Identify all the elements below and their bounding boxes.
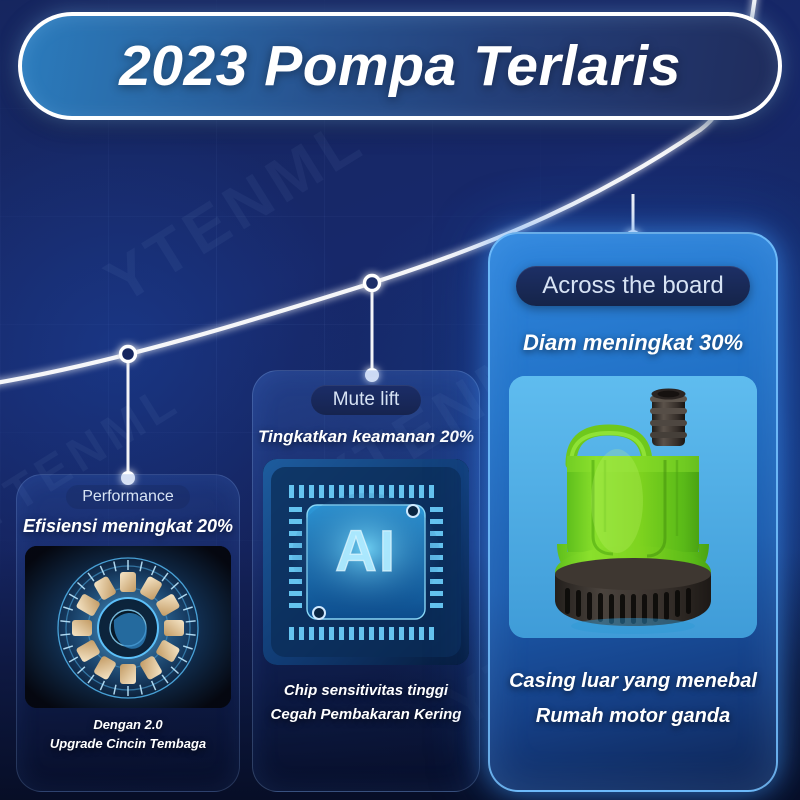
page-title: 2023 Pompa Terlaris xyxy=(119,33,681,99)
panel-subtitle: Tingkatkan keamanan 20% xyxy=(258,427,474,447)
panel-header-badge: Across the board xyxy=(516,266,749,306)
panel-header-badge: Mute lift xyxy=(311,385,422,415)
panel-footer-text: Dengan 2.0 Upgrade Cincin Tembaga xyxy=(50,716,206,754)
panel-footer-line: Rumah motor ganda xyxy=(536,699,730,734)
promo-poster: YTENML YTENML YTENML YTENML 2023 Pompa T… xyxy=(0,0,800,800)
panel-subtitle: Diam meningkat 30% xyxy=(523,330,743,356)
panel-footer-line: Upgrade Cincin Tembaga xyxy=(50,735,206,754)
panel-footer-line: Cegah Pembakaran Kering xyxy=(271,703,462,727)
feature-panel-mute-lift[interactable]: Mute lift Tingkatkan keamanan 20% xyxy=(252,370,480,792)
panel-footer-text: Chip sensitivitas tinggi Cegah Pembakara… xyxy=(271,679,462,727)
panel-footer-text: Casing luar yang menebal Rumah motor gan… xyxy=(509,664,757,734)
watermark-text: YTENML xyxy=(93,103,377,317)
panel-subtitle: Efisiensi meningkat 20% xyxy=(23,516,233,537)
svg-text:AI: AI xyxy=(335,519,397,584)
poster-title-banner: 2023 Pompa Terlaris xyxy=(18,12,782,120)
panel-footer-line: Casing luar yang menebal xyxy=(509,664,757,699)
feature-panel-performance[interactable]: Performance Efisiensi meningkat 20% xyxy=(16,474,240,792)
submersible-pump-product-image xyxy=(509,376,757,638)
motor-stator-copper-winding-image xyxy=(25,546,231,708)
feature-panel-across-the-board[interactable]: Across the board Diam meningkat 30% xyxy=(488,232,778,792)
panel-footer-line: Dengan 2.0 xyxy=(93,716,162,735)
panel-header-badge: Performance xyxy=(66,485,190,509)
panel-footer-line: Chip sensitivitas tinggi xyxy=(284,679,448,703)
ai-chip-image: AI AI xyxy=(263,459,469,665)
